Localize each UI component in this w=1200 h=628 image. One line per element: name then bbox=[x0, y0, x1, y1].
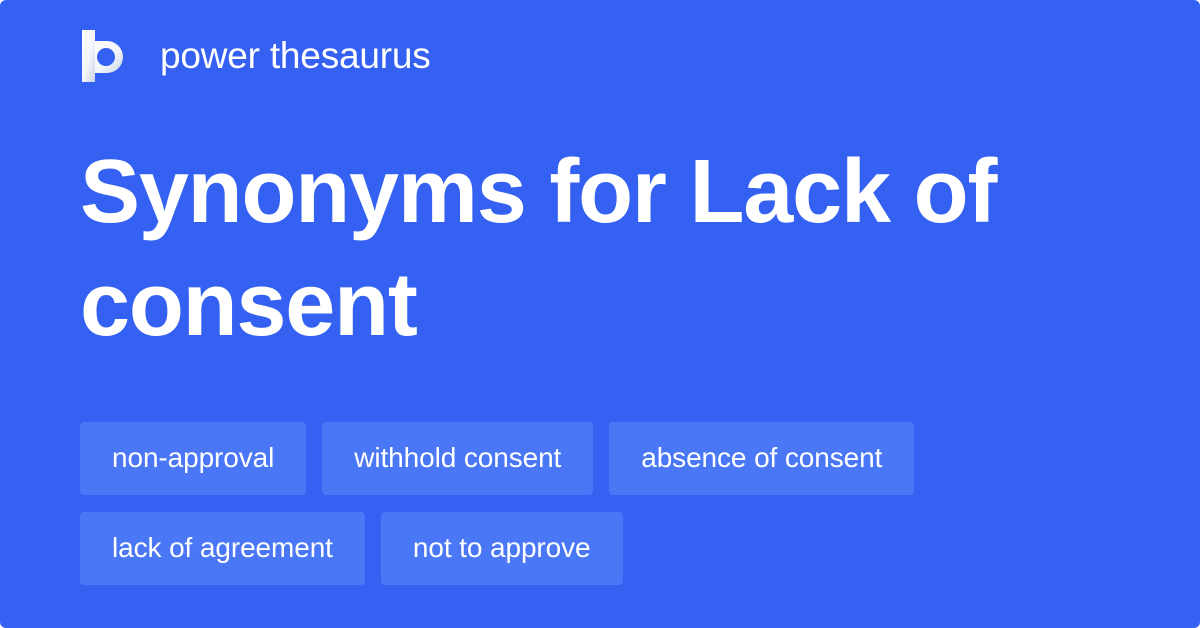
synonym-chip[interactable]: lack of agreement bbox=[80, 512, 365, 585]
synonym-chip[interactable]: withhold consent bbox=[322, 422, 593, 495]
brand-header[interactable]: power thesaurus bbox=[80, 28, 431, 84]
synonym-chip-list: non-approval withhold consent absence of… bbox=[80, 422, 1120, 585]
power-thesaurus-b-logo-icon bbox=[80, 28, 136, 84]
synonym-chip[interactable]: not to approve bbox=[381, 512, 623, 585]
page-title: Synonyms for Lack of consent bbox=[80, 136, 1090, 362]
share-card: power thesaurus Synonyms for Lack of con… bbox=[0, 0, 1200, 628]
brand-name: power thesaurus bbox=[160, 28, 431, 84]
synonym-chip[interactable]: non-approval bbox=[80, 422, 306, 495]
synonym-chip[interactable]: absence of consent bbox=[609, 422, 914, 495]
